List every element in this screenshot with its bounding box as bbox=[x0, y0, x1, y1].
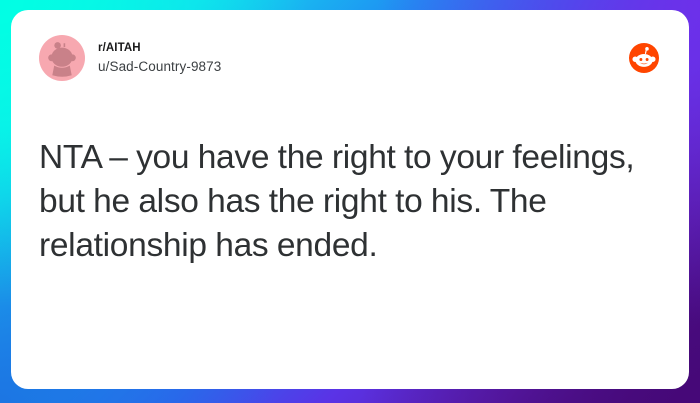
reddit-post-card: r/AITAH u/Sad-Country-9873 bbox=[11, 10, 689, 389]
post-header: r/AITAH u/Sad-Country-9873 bbox=[39, 32, 661, 84]
avatar[interactable] bbox=[39, 35, 85, 81]
reddit-snoo-avatar-icon bbox=[39, 35, 85, 81]
subreddit-name[interactable]: r/AITAH bbox=[98, 41, 221, 56]
username[interactable]: u/Sad-Country-9873 bbox=[98, 58, 221, 75]
post-meta: r/AITAH u/Sad-Country-9873 bbox=[98, 41, 221, 75]
reddit-logo-icon[interactable] bbox=[629, 43, 659, 73]
post-body-text: NTA – you have the right to your feeling… bbox=[39, 136, 639, 268]
